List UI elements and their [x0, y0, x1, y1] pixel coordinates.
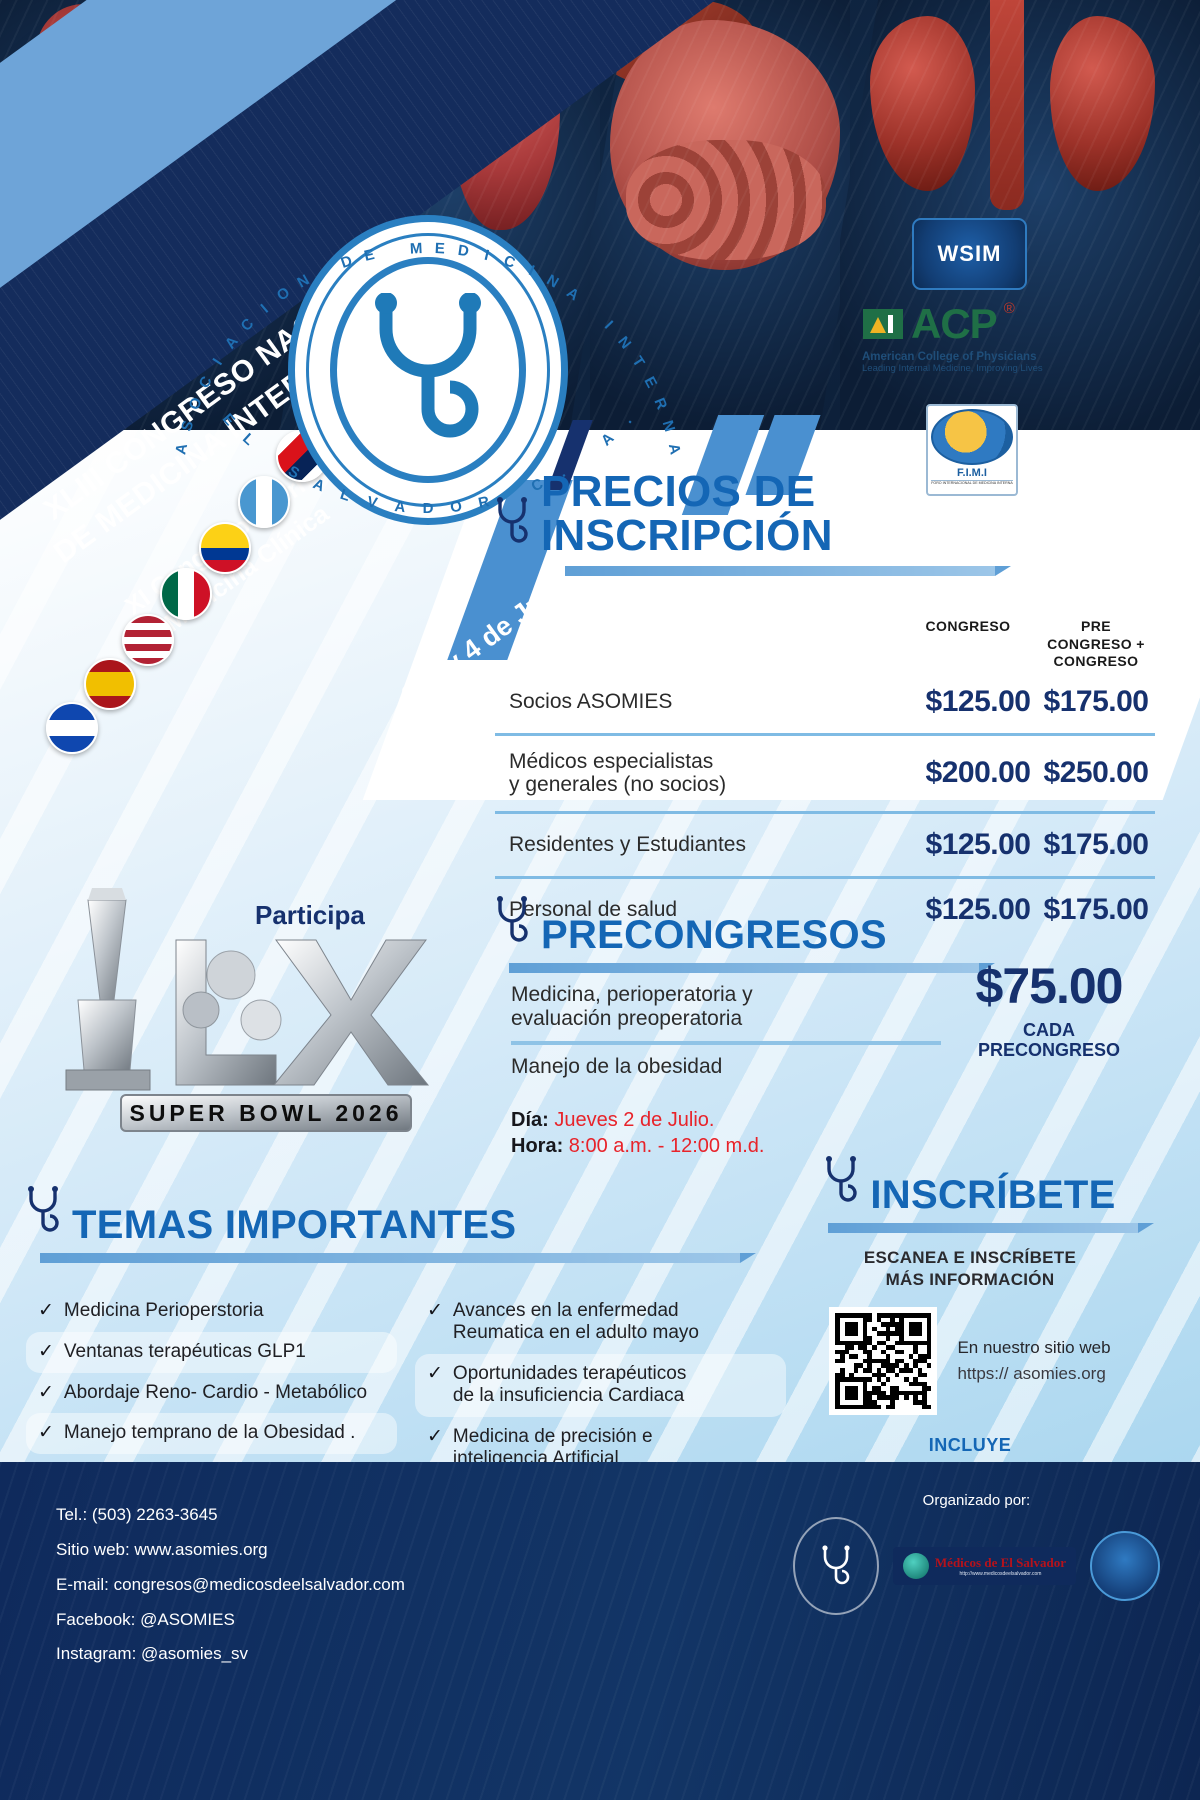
escanea-text: ESCANEA E INSCRÍBETE MÁS INFORMACIÓN: [760, 1247, 1180, 1291]
topic-label: Manejo temprano de la Obesidad .: [64, 1422, 356, 1444]
precongreso-price-sub-line1: CADA: [949, 1021, 1149, 1041]
price-congreso: $125.00: [919, 828, 1037, 862]
heading-rule: [509, 963, 979, 973]
conference-poster: XLIII CONGRESO NACIONAL DE MEDICINA INTE…: [0, 0, 1200, 1800]
registered-mark: ®: [1004, 300, 1015, 317]
flag-el-salvador: [46, 702, 98, 754]
topic-label-line1: Avances en la enfermedad: [453, 1300, 679, 1321]
precongreso-price-block: $75.00 CADA PRECONGRESO: [949, 957, 1149, 1061]
stethoscope-icon: [372, 293, 484, 453]
check-icon: ✓: [427, 1363, 443, 1386]
registration-prices-section: PRECIOS DE INSCRIPCIÓN CONGRESO PRE CONG…: [495, 470, 1155, 941]
mes-url: http://www.medicosdeelsalvador.com: [935, 1571, 1066, 1577]
qr-cell: [927, 1405, 932, 1410]
dia-value: Jueves 2 de Julio.: [554, 1109, 714, 1131]
acp-tagline-1: American College of Physicians: [862, 351, 1078, 363]
wsim-logo: WSIM: [912, 218, 1027, 290]
topic-label: Medicina Perioperstoria: [64, 1300, 264, 1322]
seal-char: A: [394, 498, 407, 516]
topic-label: Ventanas terapéuticas GLP1: [64, 1341, 306, 1363]
super-bowl-logo: SUPER BOWL 2026: [26, 880, 446, 1210]
topic-label-line2: de la insuficiencia Cardiaca: [453, 1385, 684, 1406]
lombardi-trophy-icon: [66, 888, 150, 1090]
stethoscope-icon: [495, 895, 529, 951]
price-row-label: Socios ASOMIES: [509, 690, 919, 714]
check-icon: ✓: [427, 1426, 443, 1449]
check-icon: ✓: [38, 1300, 54, 1323]
incluye-title: INCLUYE: [760, 1435, 1180, 1456]
price-congreso: $200.00: [919, 756, 1037, 790]
hora-label: Hora:: [511, 1135, 563, 1157]
temas-importantes-section: TEMAS IMPORTANTES ✓ Medicina Periopersto…: [26, 1185, 786, 1479]
check-icon: ✓: [38, 1341, 54, 1364]
contact-facebook[interactable]: Facebook: @ASOMIES: [56, 1603, 405, 1638]
seal-char: O: [449, 498, 462, 516]
price-column-headers: CONGRESO PRE CONGRESO + CONGRESO: [495, 618, 1155, 671]
check-icon: ✓: [427, 1300, 443, 1323]
hora-value: 8:00 a.m. - 12:00 m.d.: [569, 1135, 765, 1157]
qr-code[interactable]: [829, 1307, 937, 1415]
stethoscope-icon: [819, 1542, 853, 1590]
organized-by-label: Organizado por:: [793, 1492, 1160, 1509]
poster-footer: Tel.: (503) 2263-3645 Sitio web: www.aso…: [0, 1462, 1200, 1800]
inscribete-title: INSCRÍBETE: [870, 1175, 1115, 1215]
price-congreso: $125.00: [919, 685, 1037, 719]
heading-rule: [828, 1223, 1138, 1233]
precongreso-price: $75.00: [949, 957, 1149, 1015]
heading-rule: [565, 566, 995, 576]
flag-mexico: [160, 568, 212, 620]
flag-colombia: [199, 522, 251, 574]
heading-rule: [40, 1253, 740, 1263]
topic-label: Avances en la enfermedad Reumatica en el…: [453, 1300, 699, 1345]
mes-label: Médicos de El Salvador: [935, 1555, 1066, 1571]
contact-email[interactable]: E-mail: congresos@medicosdeelsalvador.co…: [56, 1568, 405, 1603]
acp-mark-icon: [862, 303, 904, 345]
price-row: Socios ASOMIES $125.00 $175.00: [495, 671, 1155, 733]
topic-item: ✓ Avances en la enfermedad Reumatica en …: [415, 1291, 786, 1354]
price-row: Residentes y Estudiantes $125.00 $175.00: [495, 811, 1155, 876]
organizers-block: Organizado por: Médicos de El Salvador: [793, 1492, 1160, 1615]
super-bowl-label: SUPER BOWL 2026: [129, 1100, 402, 1126]
price-row-label-line2: y generales (no socios): [509, 773, 919, 797]
prices-heading: PRECIOS DE INSCRIPCIÓN: [495, 470, 1155, 558]
super-bowl-lx-mark: [176, 940, 428, 1085]
check-icon: ✓: [38, 1422, 54, 1445]
asomies-seal-logo: [793, 1517, 879, 1615]
topic-item: ✓ Oportunidades terapéuticos de la insuf…: [415, 1354, 786, 1417]
precongresos-title: PRECONGRESOS: [541, 915, 887, 955]
topic-item: ✓ Abordaje Reno- Cardio - Metabólico: [26, 1373, 397, 1414]
price-precongreso: $175.00: [1037, 685, 1155, 719]
wsim-label: WSIM: [938, 241, 1002, 267]
topic-item: ✓ Manejo temprano de la Obesidad .: [26, 1413, 397, 1454]
check-icon: ✓: [38, 1382, 54, 1405]
stethoscope-icon: [495, 496, 529, 552]
topic-item: ✓ Ventanas terapéuticas GLP1: [26, 1332, 397, 1373]
seal-char: A: [310, 475, 327, 495]
seal-char: R: [477, 493, 491, 512]
temas-heading: TEMAS IMPORTANTES: [26, 1185, 786, 1245]
flag-guatemala: [238, 476, 290, 528]
price-row: Médicos especialistas y generales (no so…: [495, 733, 1155, 811]
inscribete-section: INSCRÍBETE ESCANEA E INSCRÍBETE MÁS INFO…: [760, 1155, 1180, 1510]
globe-icon: [903, 1553, 929, 1579]
super-bowl-banner: SUPER BOWL 2026: [121, 1095, 411, 1131]
seal-char: L: [338, 486, 352, 505]
seal-char: D: [423, 500, 434, 517]
topic-label: Abordaje Reno- Cardio - Metabólico: [64, 1382, 367, 1404]
temas-title: TEMAS IMPORTANTES: [72, 1205, 516, 1245]
stethoscope-icon: [824, 1155, 858, 1211]
site-url[interactable]: https:// asomies.org: [957, 1364, 1110, 1384]
flag-spain: [84, 658, 136, 710]
topic-label-line2: Reumatica en el adulto mayo: [453, 1322, 699, 1343]
topic-label-line1: Oportunidades terapéuticos: [453, 1363, 686, 1384]
topic-label: Oportunidades terapéuticos de la insufic…: [453, 1363, 686, 1408]
precongreso-schedule: Día: Jueves 2 de Julio. Hora: 8:00 a.m. …: [495, 1107, 1155, 1159]
topic-item: ✓ Medicina Perioperstoria: [26, 1291, 397, 1332]
price-column-header-congreso: CONGRESO: [909, 618, 1027, 671]
dia-label: Día:: [511, 1109, 549, 1131]
escanea-line2: MÁS INFORMACIÓN: [760, 1269, 1180, 1291]
price-row-label-line1: Médicos especialistas: [509, 750, 919, 774]
topics-left-column: ✓ Medicina Perioperstoria ✓ Ventanas ter…: [26, 1291, 397, 1479]
topics-right-column: ✓ Avances en la enfermedad Reumatica en …: [415, 1291, 786, 1479]
topic-label-line1: Medicina de precisión e: [453, 1426, 653, 1447]
prices-title-line2: INSCRIPCIÓN: [541, 514, 833, 558]
site-label: En nuestro sitio web: [957, 1338, 1110, 1358]
price-column-header-precongreso: PRE CONGRESO + CONGRESO: [1037, 618, 1155, 671]
flag-usa: [122, 614, 174, 666]
inscribete-heading: INSCRÍBETE: [760, 1155, 1180, 1215]
price-precongreso: $175.00: [1037, 828, 1155, 862]
escanea-line1: ESCANEA E INSCRÍBETE: [760, 1247, 1180, 1269]
seal-char: V: [366, 493, 379, 512]
medicos-de-el-salvador-logo: Médicos de El Salvador http://www.medico…: [893, 1547, 1076, 1585]
stethoscope-icon: [26, 1185, 60, 1241]
precongresos-section: PRECONGRESOS Medicina, perioperatoria y …: [495, 895, 1155, 1159]
acp-tagline-2: Leading Internal Medicine, Improving Liv…: [862, 363, 1078, 374]
precongresos-heading: PRECONGRESOS: [495, 895, 1155, 955]
price-row-label: Residentes y Estudiantes: [509, 833, 919, 857]
price-precongreso: $250.00: [1037, 756, 1155, 790]
contact-info: Tel.: (503) 2263-3645 Sitio web: www.aso…: [56, 1498, 405, 1672]
congresos-plus-logo: [1090, 1531, 1160, 1601]
acp-label: ACP: [911, 300, 997, 348]
prices-title-line1: PRECIOS DE: [541, 470, 833, 514]
contact-website[interactable]: Sitio web: www.asomies.org: [56, 1533, 405, 1568]
price-row-label: Médicos especialistas y generales (no so…: [509, 750, 919, 797]
contact-phone: Tel.: (503) 2263-3645: [56, 1498, 405, 1533]
contact-instagram[interactable]: Instagram: @asomies_sv: [56, 1637, 405, 1672]
precongreso-price-sub-line2: PRECONGRESO: [949, 1041, 1149, 1061]
acp-logo: ACP ® American College of Physicians Lea…: [862, 300, 1078, 382]
seal-char: S: [285, 463, 302, 483]
